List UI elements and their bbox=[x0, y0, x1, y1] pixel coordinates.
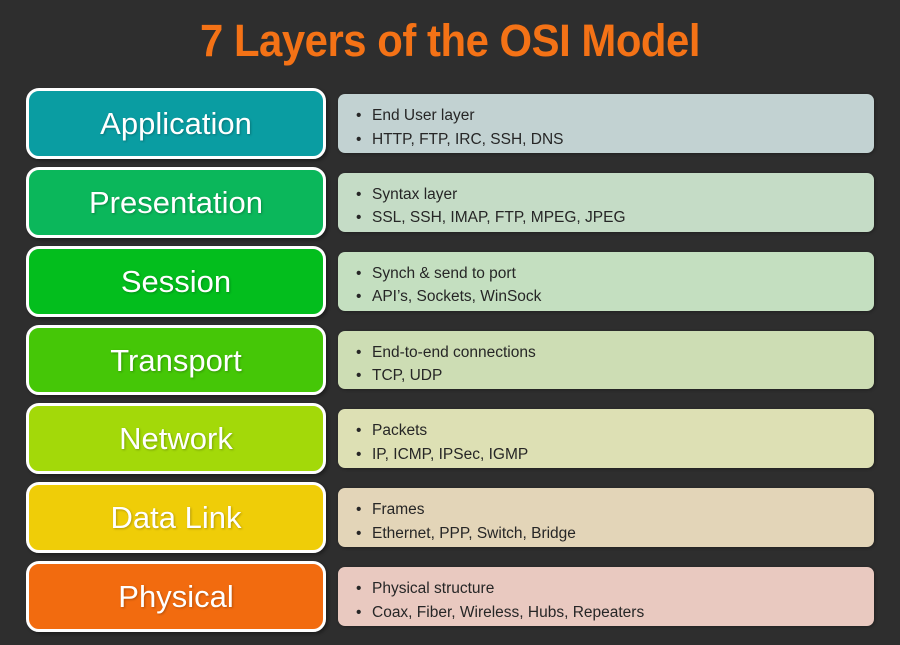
list-item: Physical structure bbox=[356, 577, 874, 601]
layer-description-session: Synch & send to port API’s, Sockets, Win… bbox=[338, 252, 874, 311]
layer-name-label: Network bbox=[119, 423, 233, 454]
layer-description-network: Packets IP, ICMP, IPSec, IGMP bbox=[338, 409, 874, 468]
list-item: End-to-end connections bbox=[356, 341, 874, 365]
layer-row: Data Link Frames Ethernet, PPP, Switch, … bbox=[0, 478, 900, 557]
layer-name-label: Presentation bbox=[89, 187, 263, 218]
layer-name-label: Data Link bbox=[111, 502, 242, 533]
list-item: Frames bbox=[356, 498, 874, 522]
layer-stack: Application End User layer HTTP, FTP, IR… bbox=[0, 84, 900, 636]
layer-pill-network[interactable]: Network bbox=[26, 403, 326, 474]
list-item: Syntax layer bbox=[356, 183, 874, 207]
bullet-list: Syntax layer SSL, SSH, IMAP, FTP, MPEG, … bbox=[356, 183, 874, 230]
list-item: API’s, Sockets, WinSock bbox=[356, 285, 874, 309]
list-item: TCP, UDP bbox=[356, 364, 874, 388]
bullet-list: End User layer HTTP, FTP, IRC, SSH, DNS bbox=[356, 104, 874, 151]
list-item: Packets bbox=[356, 419, 874, 443]
layer-row: Presentation Syntax layer SSL, SSH, IMAP… bbox=[0, 163, 900, 242]
list-item: Synch & send to port bbox=[356, 262, 874, 286]
list-item: End User layer bbox=[356, 104, 874, 128]
layer-pill-presentation[interactable]: Presentation bbox=[26, 167, 326, 238]
bullet-list: Frames Ethernet, PPP, Switch, Bridge bbox=[356, 498, 874, 545]
layer-pill-session[interactable]: Session bbox=[26, 246, 326, 317]
bullet-list: End-to-end connections TCP, UDP bbox=[356, 341, 874, 388]
layer-pill-application[interactable]: Application bbox=[26, 88, 326, 159]
layer-row: Physical Physical structure Coax, Fiber,… bbox=[0, 557, 900, 636]
layer-description-data-link: Frames Ethernet, PPP, Switch, Bridge bbox=[338, 488, 874, 547]
layer-name-label: Transport bbox=[110, 345, 242, 376]
layer-row: Transport End-to-end connections TCP, UD… bbox=[0, 321, 900, 400]
list-item: Coax, Fiber, Wireless, Hubs, Repeaters bbox=[356, 601, 874, 625]
layer-row: Session Synch & send to port API’s, Sock… bbox=[0, 242, 900, 321]
list-item: SSL, SSH, IMAP, FTP, MPEG, JPEG bbox=[356, 206, 874, 230]
layer-description-physical: Physical structure Coax, Fiber, Wireless… bbox=[338, 567, 874, 626]
layer-name-label: Physical bbox=[118, 581, 233, 612]
bullet-list: Physical structure Coax, Fiber, Wireless… bbox=[356, 577, 874, 624]
osi-model-infographic: 7 Layers of the OSI Model Application En… bbox=[0, 0, 900, 645]
layer-pill-physical[interactable]: Physical bbox=[26, 561, 326, 632]
layer-description-application: End User layer HTTP, FTP, IRC, SSH, DNS bbox=[338, 94, 874, 153]
list-item: IP, ICMP, IPSec, IGMP bbox=[356, 443, 874, 467]
layer-name-label: Session bbox=[121, 266, 231, 297]
layer-description-transport: End-to-end connections TCP, UDP bbox=[338, 331, 874, 390]
bullet-list: Packets IP, ICMP, IPSec, IGMP bbox=[356, 419, 874, 466]
layer-row: Application End User layer HTTP, FTP, IR… bbox=[0, 84, 900, 163]
list-item: Ethernet, PPP, Switch, Bridge bbox=[356, 522, 874, 546]
layer-pill-data-link[interactable]: Data Link bbox=[26, 482, 326, 553]
bullet-list: Synch & send to port API’s, Sockets, Win… bbox=[356, 262, 874, 309]
layer-description-presentation: Syntax layer SSL, SSH, IMAP, FTP, MPEG, … bbox=[338, 173, 874, 232]
layer-pill-transport[interactable]: Transport bbox=[26, 325, 326, 396]
list-item: HTTP, FTP, IRC, SSH, DNS bbox=[356, 128, 874, 152]
page-title: 7 Layers of the OSI Model bbox=[32, 0, 869, 63]
layer-row: Network Packets IP, ICMP, IPSec, IGMP bbox=[0, 399, 900, 478]
layer-name-label: Application bbox=[100, 108, 252, 139]
